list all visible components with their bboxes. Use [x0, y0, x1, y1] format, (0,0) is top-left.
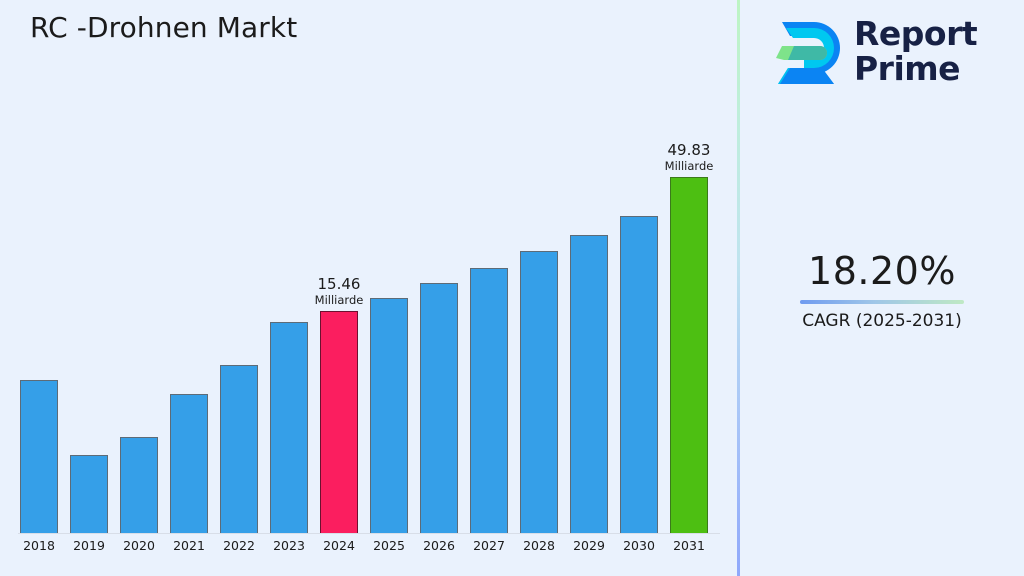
x-tick-2025: 2025 — [365, 538, 413, 553]
chart-panel: RC -Drohnen Markt 15.46Milliarde49.83Mil… — [0, 0, 738, 576]
bar-2026[interactable] — [420, 283, 458, 533]
x-tick-2030: 2030 — [615, 538, 663, 553]
x-tick-2018: 2018 — [15, 538, 63, 553]
x-tick-2026: 2026 — [415, 538, 463, 553]
x-axis-tick-labels: 2018201920202021202220232024202520262027… — [0, 534, 738, 564]
cagr-block: 18.20% CAGR (2025-2031) — [740, 252, 1024, 331]
brand-name-line1: Report — [854, 14, 977, 53]
bar-2029[interactable] — [570, 235, 608, 533]
bar-2021[interactable] — [170, 394, 208, 533]
bar-chart-plot-area: 15.46Milliarde49.83Milliarde — [0, 120, 738, 534]
x-tick-2022: 2022 — [215, 538, 263, 553]
bar-value-2024: 15.46 — [294, 276, 384, 293]
side-panel: Report Prime 18.20% CAGR (2025-2031) — [740, 0, 1024, 576]
bar-2028[interactable] — [520, 251, 558, 533]
cagr-value: 18.20% — [740, 252, 1024, 290]
bar-2025[interactable] — [370, 298, 408, 533]
x-tick-2029: 2029 — [565, 538, 613, 553]
bar-2023[interactable] — [270, 322, 308, 533]
x-tick-2021: 2021 — [165, 538, 213, 553]
x-tick-2028: 2028 — [515, 538, 563, 553]
x-tick-2019: 2019 — [65, 538, 113, 553]
brand-name-line2: Prime — [854, 51, 1014, 86]
x-tick-2023: 2023 — [265, 538, 313, 553]
bar-2019[interactable] — [70, 455, 108, 533]
x-tick-2027: 2027 — [465, 538, 513, 553]
bar-unit-2031: Milliarde — [644, 160, 734, 173]
bar-value-2031: 49.83 — [644, 142, 734, 159]
bar-2024[interactable] — [320, 311, 358, 533]
brand-name: Report Prime — [854, 16, 1014, 87]
cagr-divider — [800, 300, 964, 304]
bar-2022[interactable] — [220, 365, 258, 533]
report-prime-logo-mark-icon — [764, 14, 848, 98]
bar-2027[interactable] — [470, 268, 508, 533]
page-title: RC -Drohnen Markt — [30, 11, 297, 44]
bar-2020[interactable] — [120, 437, 158, 533]
cagr-caption: CAGR (2025-2031) — [740, 311, 1024, 331]
x-tick-2020: 2020 — [115, 538, 163, 553]
bar-value-label-2031: 49.83Milliarde — [644, 142, 734, 173]
bar-2031[interactable] — [670, 177, 708, 533]
poster-root: RC -Drohnen Markt 15.46Milliarde49.83Mil… — [0, 0, 1024, 576]
x-tick-2024: 2024 — [315, 538, 363, 553]
brand-logo[interactable]: Report Prime — [764, 12, 1008, 98]
x-tick-2031: 2031 — [665, 538, 713, 553]
bar-2018[interactable] — [20, 380, 58, 533]
bar-2030[interactable] — [620, 216, 658, 533]
